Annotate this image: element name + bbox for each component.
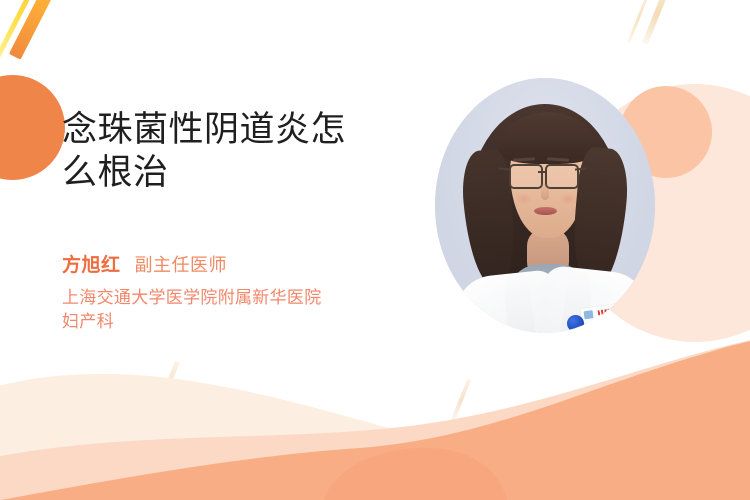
doctor-name-row: 方旭红 副主任医师	[62, 250, 422, 277]
cream-stripe-decor-b	[642, 0, 674, 45]
page-title: 念珠菌性阴道炎怎 么根治	[62, 108, 414, 194]
wave-front-decor	[0, 330, 750, 500]
doctor-info-card: 念珠菌性阴道炎怎 么根治 方旭红 副主任医师 上海交通大学医学院附属新华医院 妇…	[0, 0, 750, 500]
doctor-name: 方旭红	[62, 250, 121, 277]
glasses-lens-left	[509, 164, 543, 189]
glasses-bridge	[538, 171, 546, 173]
cheek-left	[515, 193, 533, 205]
faint-stripe-decor-right	[451, 379, 471, 421]
yellow-stripe-decor	[0, 0, 40, 62]
doctor-byline: 方旭红 副主任医师 上海交通大学医学院附属新华医院 妇产科	[62, 250, 422, 334]
doctor-title: 副主任医师	[135, 251, 228, 277]
orange-circle-decor	[0, 75, 65, 180]
doctor-portrait	[435, 78, 655, 333]
title-block: 念珠菌性阴道炎怎 么根治	[62, 108, 414, 194]
cream-stripe-decor-a	[627, 0, 653, 42]
faint-stripe-decor-left	[157, 361, 180, 407]
doctor-affiliation: 上海交通大学医学院附属新华医院 妇产科	[62, 286, 422, 334]
cheek-right	[559, 193, 577, 205]
nose-shape	[541, 182, 549, 200]
orange-stripe-decor	[9, 0, 64, 60]
wave-mid-decor	[0, 330, 750, 500]
wave-back-decor	[0, 330, 750, 500]
mouth-shape	[534, 207, 557, 215]
yellow-stripe-wedge-decor	[435, 292, 655, 333]
